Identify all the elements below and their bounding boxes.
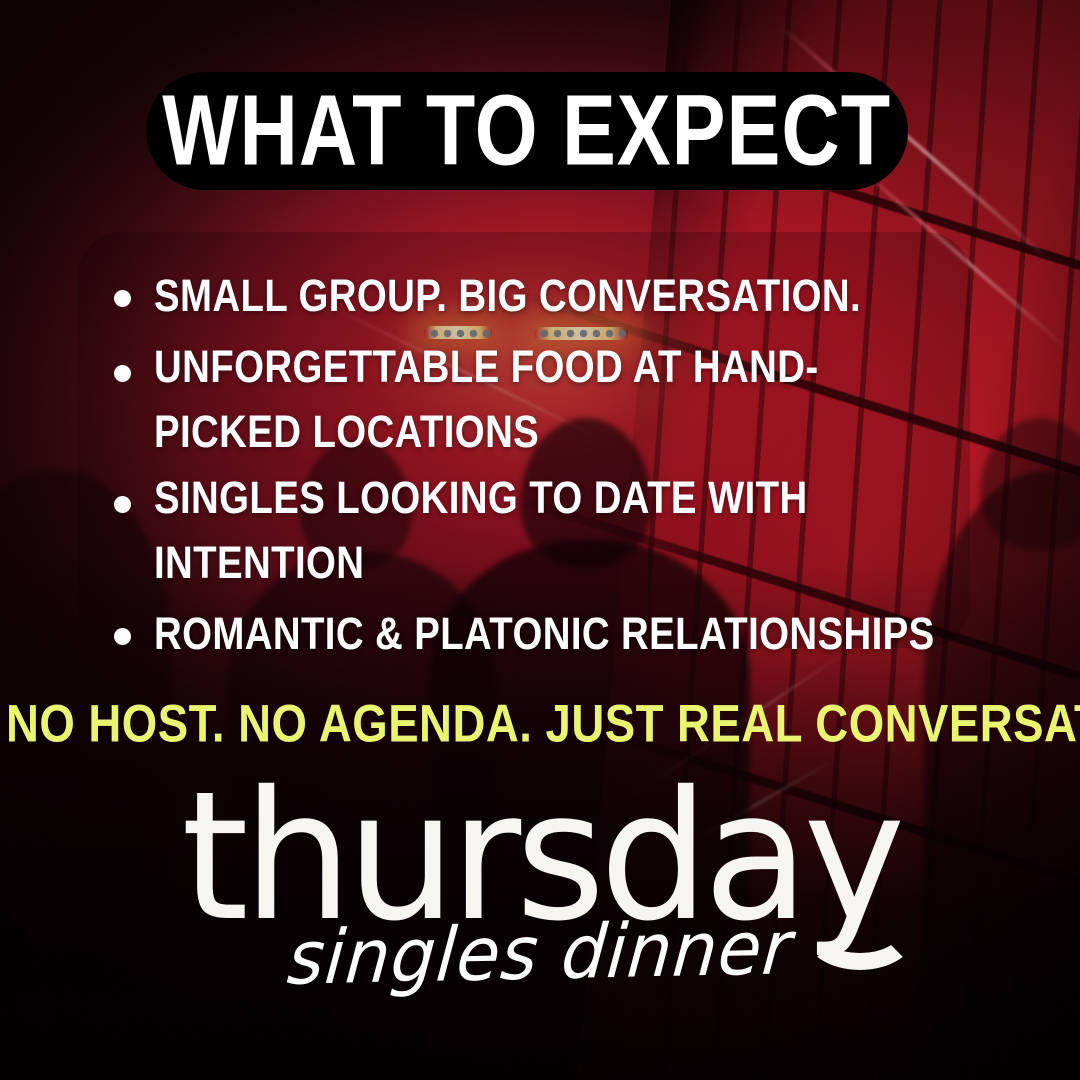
tagline-text: NO HOST. NO AGENDA. JUST REAL CONVERSATI…	[6, 697, 1080, 750]
bullet-dot-icon	[114, 290, 131, 307]
list-item: SINGLES LOOKING TO DATE WITH INTENTION	[108, 474, 988, 588]
logo-subtitle-text: singles dinner	[285, 911, 796, 996]
list-item-label: SINGLES LOOKING TO DATE WITH INTENTION	[154, 466, 955, 595]
bullet-dot-icon	[114, 496, 131, 513]
poster-canvas: WHAT TO EXPECT SMALL GROUP. BIG CONVERSA…	[0, 0, 1080, 1080]
bullet-dot-icon	[114, 628, 131, 645]
list-item-label: SMALL GROUP. BIG CONVERSATION.	[154, 264, 861, 329]
title-pill: WHAT TO EXPECT	[146, 72, 908, 190]
poster-content: WHAT TO EXPECT SMALL GROUP. BIG CONVERSA…	[0, 0, 1080, 1080]
tagline: NO HOST. NO AGENDA. JUST REAL CONVERSATI…	[0, 700, 1080, 746]
list-item-label: ROMANTIC & PLATONIC RELATIONSHIPS	[154, 602, 935, 667]
bullet-dot-icon	[114, 365, 131, 382]
list-item: UNFORGETTABLE FOOD AT HAND-PICKED LOCATI…	[108, 343, 988, 457]
page-title: WHAT TO EXPECT	[163, 81, 892, 181]
list-item-label: UNFORGETTABLE FOOD AT HAND-PICKED LOCATI…	[154, 335, 955, 464]
list-item: SMALL GROUP. BIG CONVERSATION.	[108, 268, 988, 325]
list-item: ROMANTIC & PLATONIC RELATIONSHIPS	[108, 606, 988, 663]
expectations-list: SMALL GROUP. BIG CONVERSATION. UNFORGETT…	[108, 268, 988, 681]
